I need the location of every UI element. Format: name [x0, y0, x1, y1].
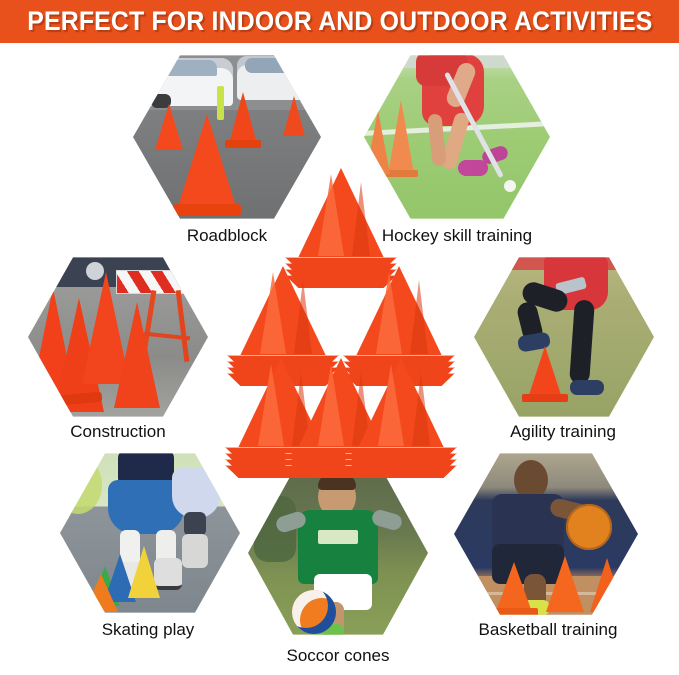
bb-cone-center — [546, 556, 584, 612]
slalom-cone-orange — [84, 574, 118, 612]
agility-cone — [528, 346, 562, 398]
cone-highlight — [318, 364, 344, 446]
header-banner: PERFECT FOR INDOOR AND OUTDOOR ACTIVITIE… — [0, 0, 679, 43]
cone-highlight — [378, 364, 404, 446]
construction-cone-4 — [114, 302, 160, 408]
bb-cone-left-base — [490, 608, 538, 617]
bb-cone-right — [590, 558, 624, 612]
hockey-ball — [504, 180, 516, 192]
label-agility: Agility training — [468, 422, 658, 442]
page-title: PERFECT FOR INDOOR AND OUTDOOR ACTIVITIE… — [27, 6, 652, 37]
agility-cone-base — [522, 394, 568, 402]
athlete-shoe-front — [458, 160, 488, 176]
athlete-shoe-standing — [570, 380, 604, 395]
traffic-cone-large-base — [173, 204, 241, 216]
cone-highlight — [376, 272, 402, 354]
basketball — [566, 504, 612, 550]
label-soccer: Soccor cones — [248, 646, 428, 666]
car-window-right — [245, 58, 301, 73]
soccer-scene — [248, 468, 428, 638]
photo-tile-soccer — [248, 468, 428, 638]
hockey-cone-short — [366, 110, 390, 174]
foliage-bokeh — [60, 456, 102, 514]
cone-highlight — [258, 364, 284, 446]
photo-tile-construction — [28, 254, 208, 420]
label-skating: Skating play — [58, 620, 238, 640]
skater2-skirt — [172, 468, 220, 518]
basketball-scene — [454, 450, 638, 618]
slalom-cone-yellow — [128, 546, 160, 598]
label-construction: Construction — [28, 422, 208, 442]
cone-shadow — [352, 182, 370, 256]
skating-scene — [60, 450, 240, 616]
center-cone-stack-bottom-right — [342, 358, 460, 478]
construction-scene — [28, 254, 208, 420]
traffic-cone-back-base — [225, 140, 261, 148]
hockey-cone-tall — [388, 100, 414, 174]
player-green-jersey — [298, 510, 378, 584]
cone-shadow — [410, 280, 428, 354]
traffic-cone-mid — [155, 104, 183, 150]
cone-shadow — [294, 280, 312, 354]
label-basketball: Basketball training — [448, 620, 648, 640]
traffic-cone-large — [177, 114, 237, 210]
cone-highlight — [260, 272, 286, 354]
skater2-kneepad — [184, 512, 206, 536]
yellow-marker-flag — [217, 86, 224, 120]
barricade-leg-b — [176, 290, 190, 362]
photo-tile-skating — [60, 450, 240, 616]
traffic-cone-far — [283, 96, 305, 136]
infographic-canvas: PERFECT FOR INDOOR AND OUTDOOR ACTIVITIE… — [0, 0, 679, 675]
cone-stack-rings — [342, 444, 460, 478]
car-window-left — [151, 60, 217, 76]
jersey-sponsor-logo — [318, 530, 358, 544]
cone-shadow — [412, 372, 430, 446]
photo-tile-agility — [474, 254, 654, 420]
athlete-leg-standing — [569, 299, 595, 384]
bb-cone-left — [496, 562, 532, 612]
photo-tile-basketball — [454, 450, 638, 618]
cone-highlight — [318, 174, 344, 256]
agility-scene — [474, 254, 654, 420]
skater2-boot — [182, 534, 208, 568]
traffic-cone-back — [229, 92, 257, 144]
cone-ring — [345, 447, 457, 460]
soccer-ball — [292, 590, 336, 634]
